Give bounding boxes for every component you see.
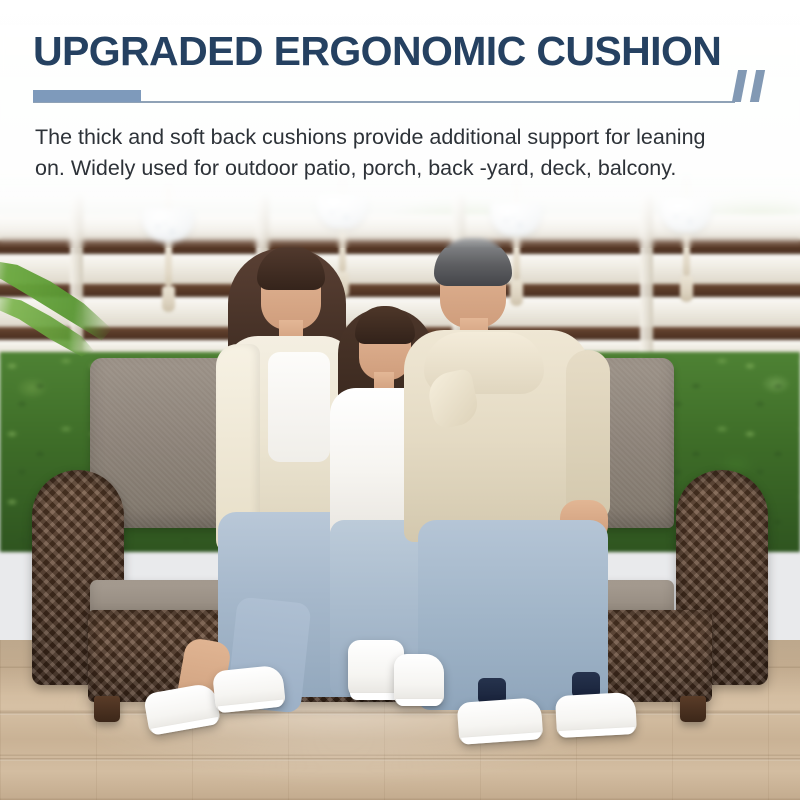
- floor-plank-seam: [0, 758, 800, 761]
- shirt: [268, 352, 330, 462]
- product-feature-poster: UPGRADED ERGONOMIC CUSHION The thick and…: [0, 0, 800, 800]
- sneaker: [457, 697, 544, 745]
- planter-tassel: [162, 286, 175, 312]
- sneaker: [394, 654, 444, 706]
- planter-tassel: [680, 276, 693, 302]
- header: UPGRADED ERGONOMIC CUSHION The thick and…: [0, 0, 800, 240]
- sneaker: [212, 664, 286, 713]
- planter-cord: [165, 242, 172, 286]
- quote-mark-icon: [735, 70, 769, 102]
- page-title: UPGRADED ERGONOMIC CUSHION: [33, 31, 745, 72]
- sofa-foot: [680, 696, 706, 722]
- arm: [566, 350, 610, 520]
- description-text: The thick and soft back cushions provide…: [35, 122, 735, 184]
- planter-tassel: [510, 280, 523, 306]
- sneaker: [555, 692, 637, 738]
- accent-bar: [33, 90, 141, 102]
- sofa-foot: [94, 696, 120, 722]
